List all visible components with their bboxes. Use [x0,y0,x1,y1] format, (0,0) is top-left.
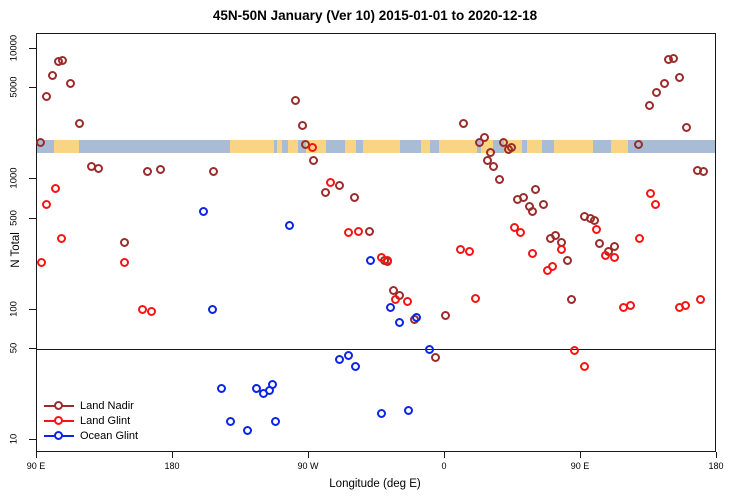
data-point-nadir [441,311,450,320]
y-tick-label: 1000 [9,168,20,189]
data-point-nadir [209,167,218,176]
data-point-glint [548,262,557,271]
data-point-nadir [350,193,359,202]
y-axis-title: N Total [10,232,22,268]
data-point-nadir [495,175,504,184]
data-point-nadir [120,238,129,247]
data-point-nadir [699,167,708,176]
map-land-segment [527,140,542,153]
data-point-nadir [298,121,307,130]
data-point-ocean [395,318,404,327]
data-point-ocean [425,345,434,354]
data-point-glint [354,227,363,236]
data-point-nadir [645,101,654,110]
data-point-nadir [335,181,344,190]
legend-marker-glint [44,415,74,427]
chart-root: 45N-50N January (Ver 10) 2015-01-01 to 2… [0,0,750,500]
data-point-glint [626,301,635,310]
data-point-nadir [58,56,67,65]
x-tick-label: 90 W [297,461,318,471]
legend-label: Land Nadir [80,400,134,412]
data-point-nadir [528,207,537,216]
map-land-segment [230,140,274,153]
legend-item-ocean: Ocean Glint [44,428,138,443]
y-tick-label: 5000 [9,77,20,98]
data-point-glint [557,245,566,254]
data-point-glint [646,189,655,198]
map-land-segment [288,140,299,153]
data-point-nadir [48,71,57,80]
data-point-glint [383,256,392,265]
data-point-nadir [42,92,51,101]
map-land-segment [345,140,356,153]
x-axis-title: Longitude (deg E) [0,478,750,490]
data-point-ocean [271,417,280,426]
legend-item-nadir: Land Nadir [44,398,138,413]
data-point-ocean [386,303,395,312]
y-tick-label: 100 [9,301,20,317]
y-tick-label: 50 [9,343,20,354]
legend-label: Ocean Glint [80,430,138,442]
data-point-nadir [610,242,619,251]
data-point-ocean [366,256,375,265]
y-tick-label: 10000 [9,35,20,61]
data-point-glint [471,294,480,303]
data-point-nadir [634,140,643,149]
data-point-nadir [590,216,599,225]
data-point-nadir [291,96,300,105]
data-point-ocean [377,409,386,418]
data-point-glint [580,362,589,371]
data-point-glint [681,301,690,310]
data-point-ocean [243,426,252,435]
data-point-nadir [309,156,318,165]
data-point-glint [326,178,335,187]
data-point-ocean [351,362,360,371]
data-point-glint [610,253,619,262]
data-point-ocean [285,221,294,230]
data-point-glint [456,245,465,254]
y-tick [29,309,36,310]
y-tick [29,48,36,49]
x-tick [580,452,581,458]
data-point-glint [528,249,537,258]
data-point-nadir [431,353,440,362]
y-tick-label: 10 [9,434,20,445]
plot-area [36,33,716,452]
data-point-glint [138,305,147,314]
data-point-nadir [75,119,84,128]
data-point-glint [344,228,353,237]
y-tick [29,218,36,219]
y-tick [29,178,36,179]
data-point-nadir [486,148,495,157]
data-point-glint [651,200,660,209]
legend-dot [54,431,63,440]
x-tick [172,452,173,458]
y-axis-title-wrap: N Total [0,0,16,500]
x-tick-label: 90 E [571,461,590,471]
data-point-nadir [459,119,468,128]
data-point-nadir [539,200,548,209]
legend-marker-nadir [44,400,74,412]
map-land-segment [277,140,282,153]
data-point-glint [57,234,66,243]
data-point-nadir [519,193,528,202]
x-tick-label: 180 [164,461,179,471]
data-point-nadir [531,185,540,194]
data-point-nadir [595,239,604,248]
reference-line-50 [37,349,715,350]
data-point-nadir [94,164,103,173]
data-point-nadir [480,133,489,142]
chart-title: 45N-50N January (Ver 10) 2015-01-01 to 2… [0,8,750,23]
data-point-glint [120,258,129,267]
data-point-glint [592,225,601,234]
data-point-ocean [412,313,421,322]
y-tick [29,348,36,349]
data-point-ocean [199,207,208,216]
map-land-segment [439,140,477,153]
x-tick [36,452,37,458]
y-tick [29,439,36,440]
data-point-nadir [669,54,678,63]
x-tick-label: 0 [441,461,446,471]
data-point-nadir [66,79,75,88]
y-tick-label: 500 [9,210,20,226]
data-point-glint [403,297,412,306]
x-tick [308,452,309,458]
x-tick-label: 180 [708,461,723,471]
data-point-glint [42,200,51,209]
data-point-ocean [344,351,353,360]
map-land-segment [554,140,593,153]
legend-label: Land Glint [80,415,130,427]
x-tick-label: 90 E [27,461,46,471]
map-land-segment [611,140,628,153]
data-point-ocean [268,380,277,389]
data-point-nadir [489,162,498,171]
map-land-segment [363,140,399,153]
world-map-band [37,140,715,153]
data-point-nadir [660,79,669,88]
data-point-nadir [682,123,691,132]
legend: Land NadirLand GlintOcean Glint [44,398,138,443]
data-point-glint [465,247,474,256]
data-point-nadir [567,295,576,304]
data-point-nadir [156,165,165,174]
data-point-ocean [226,417,235,426]
data-point-ocean [404,406,413,415]
data-point-glint [308,143,317,152]
data-point-nadir [675,73,684,82]
y-tick [29,87,36,88]
legend-dot [54,401,63,410]
data-point-nadir [321,188,330,197]
data-point-glint [37,258,46,267]
data-point-nadir [143,167,152,176]
data-point-ocean [208,305,217,314]
data-point-nadir [365,227,374,236]
data-point-glint [51,184,60,193]
data-point-glint [635,234,644,243]
legend-marker-ocean [44,430,74,442]
data-point-ocean [335,355,344,364]
data-point-glint [147,307,156,316]
legend-dot [54,416,63,425]
data-point-glint [516,228,525,237]
data-point-glint [696,295,705,304]
data-point-nadir [563,256,572,265]
data-point-nadir [652,88,661,97]
x-tick [716,452,717,458]
data-point-ocean [217,384,226,393]
data-point-glint [601,251,610,260]
map-land-segment [421,140,430,153]
data-point-glint [570,346,579,355]
map-land-segment [54,140,80,153]
x-tick [444,452,445,458]
legend-item-glint: Land Glint [44,413,138,428]
